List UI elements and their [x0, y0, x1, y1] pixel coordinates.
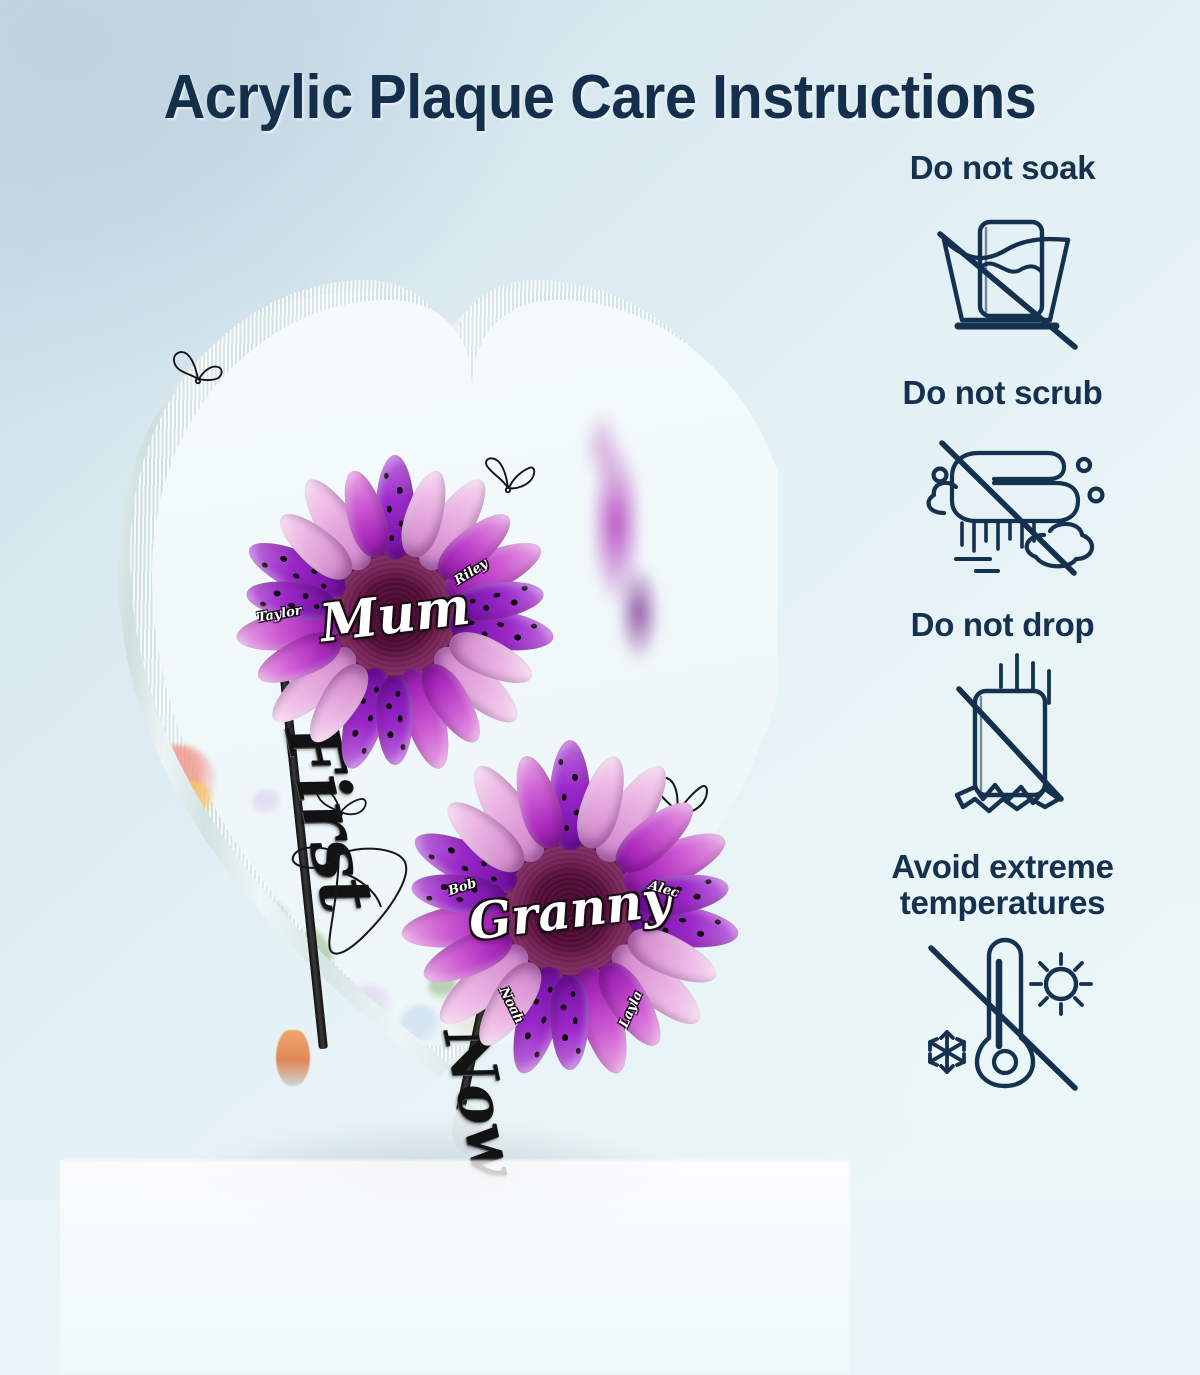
stem-bulb-left	[276, 1030, 310, 1086]
watercolor-flower	[220, 1005, 266, 1047]
watercolor-flower	[170, 997, 228, 1049]
care-item-do-not-scrub: Do not scrub	[815, 375, 1190, 607]
care-label-do-not-soak: Do not soak	[815, 150, 1190, 186]
edge-refraction-glow	[540, 375, 730, 705]
care-label-do-not-drop: Do not drop	[815, 607, 1190, 643]
watercolor-leaf	[156, 925, 185, 972]
no-drop-icon	[913, 649, 1093, 824]
butterfly-icon	[478, 450, 538, 500]
butterfly-icon	[168, 343, 226, 391]
no-soak-icon	[910, 192, 1095, 352]
page-title: Acrylic Plaque Care Instructions	[42, 62, 1158, 133]
table-surface	[60, 1160, 850, 1375]
care-item-do-not-drop: Do not drop	[815, 607, 1190, 849]
watercolor-flower	[204, 945, 248, 985]
care-item-avoid-extreme-temperatures: Avoid extreme temperatures	[815, 849, 1190, 1099]
no-extreme-temperature-icon	[903, 926, 1103, 1091]
care-label-do-not-scrub: Do not scrub	[815, 375, 1190, 411]
watercolor-flower	[140, 781, 168, 807]
care-item-do-not-soak: Do not soak	[815, 150, 1190, 375]
watercolor-flower	[118, 833, 174, 881]
product-image: First Now Mum Taylor Riley Granny Bob Al…	[60, 175, 820, 1175]
watercolor-flower	[290, 975, 330, 1011]
no-scrub-icon	[898, 417, 1108, 577]
butterfly-icon	[265, 815, 435, 975]
care-instructions-page: Acrylic Plaque Care Instructions First N…	[0, 0, 1200, 1200]
sunflower-mum: Mum Taylor Riley	[235, 455, 555, 775]
watercolor-flower	[124, 945, 194, 1007]
flower-petal	[551, 975, 590, 1070]
watercolor-flower	[160, 885, 206, 927]
care-instruction-list: Do not soak Do not scrub	[815, 150, 1190, 1099]
care-label-avoid-extreme-temperatures: Avoid extreme temperatures	[815, 849, 1190, 920]
